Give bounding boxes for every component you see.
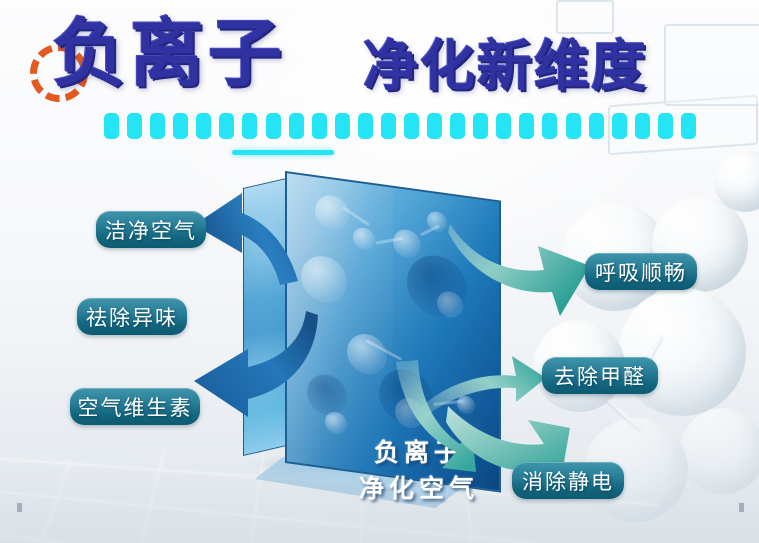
background-equipment-outline-2 bbox=[664, 24, 759, 106]
cyan-dash-segment bbox=[266, 113, 281, 139]
cyan-dash-bar bbox=[104, 113, 696, 139]
cyan-dash-segment bbox=[473, 113, 488, 139]
cyan-dash-segment bbox=[289, 113, 304, 139]
benefit-pill-remove-odor[interactable]: 祛除异味 bbox=[77, 298, 187, 335]
cyan-dash-segment bbox=[427, 113, 442, 139]
cyan-dash-segment bbox=[542, 113, 557, 139]
poster-root: 负离子 净化新维度 bbox=[0, 0, 759, 543]
cyan-dash-segment bbox=[335, 113, 350, 139]
benefit-pill-label: 去除甲醛 bbox=[554, 361, 646, 391]
cyan-underline bbox=[232, 150, 334, 155]
cyan-dash-segment bbox=[104, 113, 119, 139]
benefit-pill-remove-formaldehyde[interactable]: 去除甲醛 bbox=[542, 357, 658, 394]
benefit-pill-label: 消除静电 bbox=[522, 466, 614, 496]
cyan-dash-segment bbox=[658, 113, 673, 139]
benefit-pill-clean-air[interactable]: 洁净空气 bbox=[96, 211, 206, 248]
cyan-dash-segment bbox=[496, 113, 511, 139]
cyan-dash-segment bbox=[612, 113, 627, 139]
background-tick-right bbox=[739, 503, 744, 512]
cyan-dash-segment bbox=[681, 113, 696, 139]
background-equipment-outline-3 bbox=[556, 0, 614, 34]
arrow-out-lower-left bbox=[178, 305, 328, 425]
cyan-dash-segment bbox=[127, 113, 142, 139]
cyan-dash-segment bbox=[219, 113, 234, 139]
benefit-pill-eliminate-static[interactable]: 消除静电 bbox=[512, 462, 624, 499]
cyan-dash-segment bbox=[381, 113, 396, 139]
cyan-dash-segment bbox=[404, 113, 419, 139]
benefit-pill-smooth-breathing[interactable]: 呼吸顺畅 bbox=[585, 253, 697, 290]
benefit-pill-label: 呼吸顺畅 bbox=[595, 257, 687, 287]
benefit-pill-air-vitamin[interactable]: 空气维生素 bbox=[70, 388, 200, 425]
cyan-dash-segment bbox=[635, 113, 650, 139]
cyan-dash-segment bbox=[566, 113, 581, 139]
cyan-dash-segment bbox=[358, 113, 373, 139]
cyan-dash-segment bbox=[450, 113, 465, 139]
benefit-pill-label: 祛除异味 bbox=[86, 302, 178, 332]
cyan-dash-segment bbox=[173, 113, 188, 139]
page-title-sub: 净化新维度 bbox=[363, 39, 648, 94]
background-tick-left bbox=[17, 503, 22, 512]
cyan-dash-segment bbox=[150, 113, 165, 139]
benefit-pill-label: 洁净空气 bbox=[105, 215, 197, 245]
arrow-out-upper-right bbox=[448, 218, 598, 328]
cyan-dash-segment bbox=[242, 113, 257, 139]
page-title-main: 负离子 bbox=[52, 17, 286, 91]
cyan-dash-segment bbox=[589, 113, 604, 139]
cyan-dash-segment bbox=[519, 113, 534, 139]
benefit-pill-label: 空气维生素 bbox=[78, 392, 193, 422]
cyan-dash-segment bbox=[312, 113, 327, 139]
cyan-dash-segment bbox=[196, 113, 211, 139]
